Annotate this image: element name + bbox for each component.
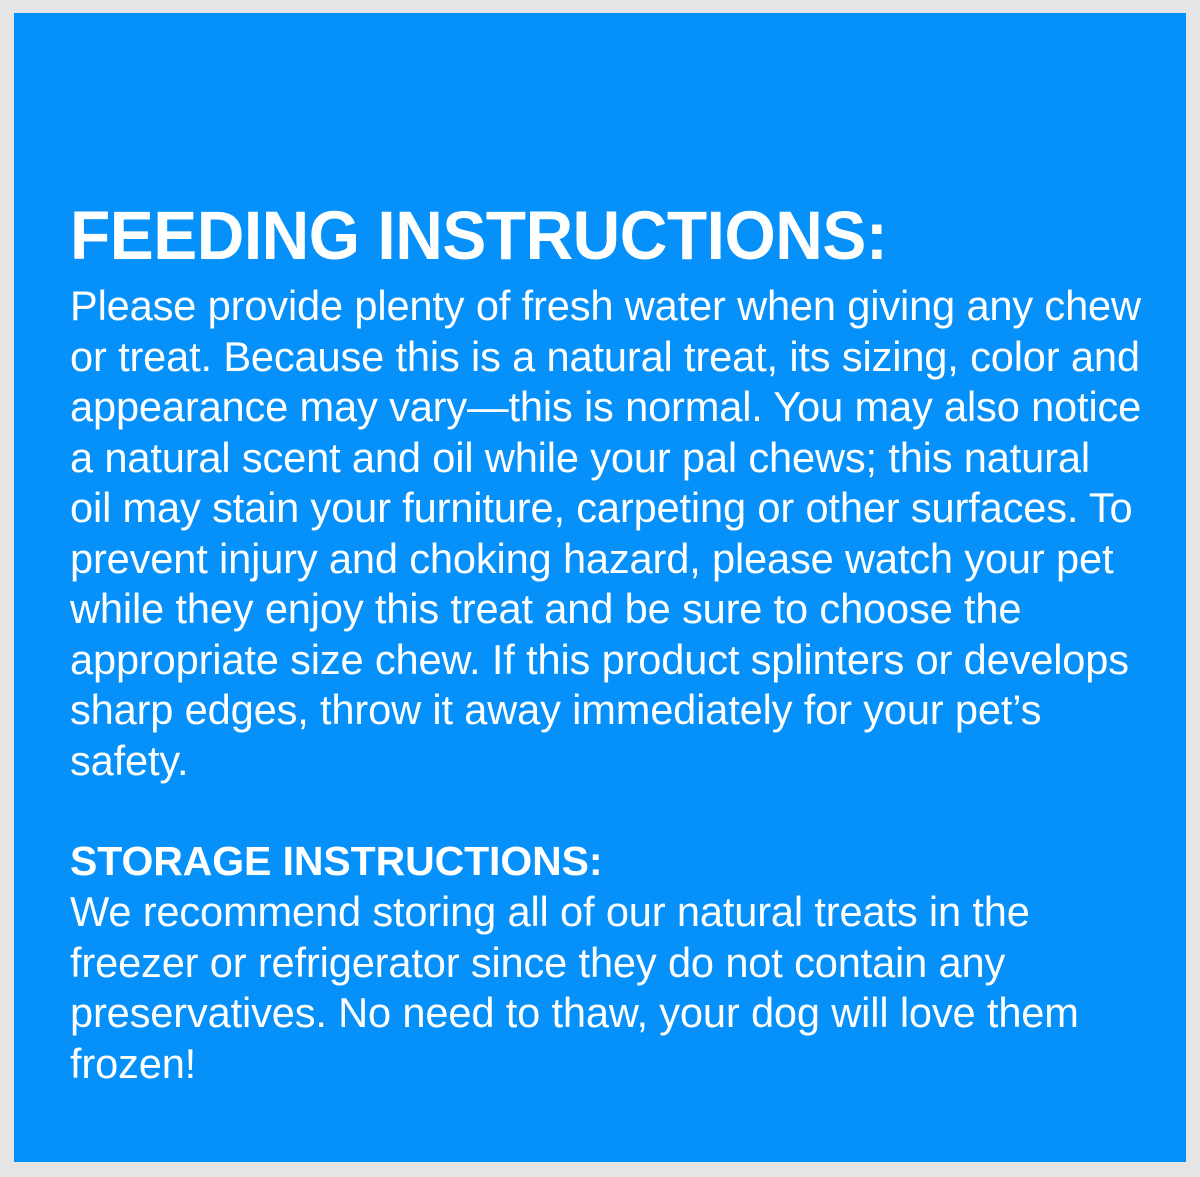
storage-instructions-heading: STORAGE INSTRUCTIONS: (70, 836, 1152, 886)
storage-instructions-section: STORAGE INSTRUCTIONS: We recommend stori… (70, 836, 1152, 1089)
product-info-page: FEEDING INSTRUCTIONS: Please provide ple… (0, 0, 1200, 1177)
feeding-instructions-body: Please provide plenty of fresh water whe… (70, 281, 1141, 786)
feeding-instructions-panel: FEEDING INSTRUCTIONS: Please provide ple… (14, 13, 1186, 1162)
feeding-instructions-heading: FEEDING INSTRUCTIONS: (70, 199, 1103, 273)
storage-instructions-body: We recommend storing all of our natural … (70, 887, 1141, 1089)
panel-content: FEEDING INSTRUCTIONS: Please provide ple… (70, 199, 1152, 1089)
